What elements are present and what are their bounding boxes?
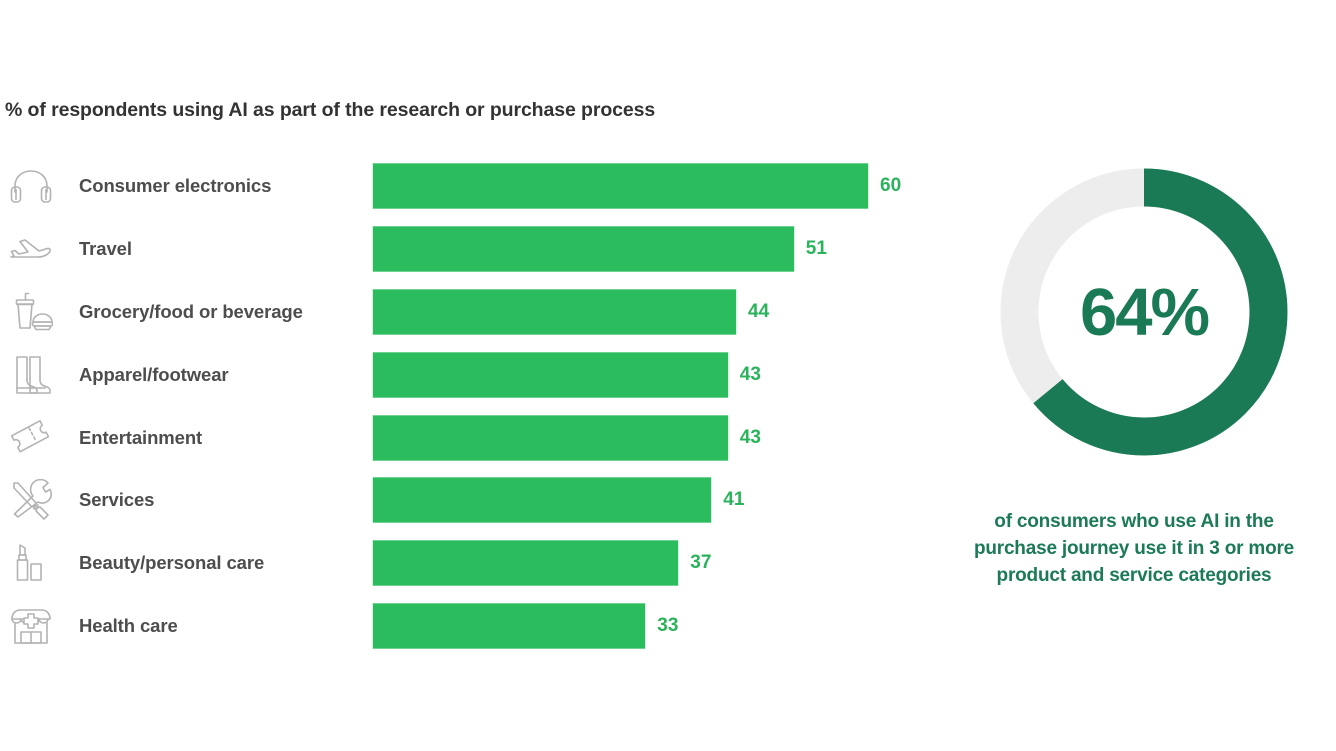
donut-caption-line: of consumers who use AI in the [932,508,1336,535]
donut-chart: 64% of consumers who use AI in the purch… [932,160,1336,600]
bar-track [373,415,728,460]
bar-track [373,541,678,586]
bar-track [373,352,728,397]
bar-category-label: Apparel/footwear [79,364,229,386]
donut-caption: of consumers who use AI in the purchase … [932,508,1336,589]
bar-row: Apparel/footwear 43 [0,343,930,406]
bar-fill [373,603,645,648]
bar-fill [373,415,728,460]
bar-category-label: Health care [79,615,178,637]
bar-track [373,164,868,209]
bar-track [373,227,794,272]
bar-value-label: 41 [723,489,744,511]
bar-track [373,478,711,523]
bar-fill [373,352,728,397]
boots-icon [6,352,56,398]
bar-row: Health care 33 [0,595,930,658]
bar-value-label: 60 [880,175,901,197]
bar-row: Entertainment 43 [0,406,930,469]
bar-category-label: Travel [79,238,132,260]
donut-graphic: 64% [1000,168,1288,456]
bar-track [373,289,736,334]
bar-category-label: Entertainment [79,427,202,449]
ticket-icon [6,415,56,461]
donut-caption-line: product and service categories [932,562,1336,589]
airplane-icon [6,226,56,272]
tools-icon [6,477,56,523]
bar-fill [373,164,868,209]
chart-title: % of respondents using AI as part of the… [5,99,655,122]
bar-category-label: Services [79,489,154,511]
bar-value-label: 37 [690,552,711,574]
chart-page: % of respondents using AI as part of the… [0,0,1336,751]
cosmetics-icon [6,540,56,586]
donut-caption-line: purchase journey use it in 3 or more [932,535,1336,562]
bar-fill [373,478,711,523]
bar-category-label: Grocery/food or beverage [79,301,303,323]
headphones-icon [6,163,56,209]
bar-value-label: 43 [740,364,761,386]
bar-category-label: Beauty/personal care [79,552,264,574]
bar-fill [373,541,678,586]
bar-fill [373,227,794,272]
bar-row: Services 41 [0,469,930,532]
bar-fill [373,289,736,334]
bar-row: Beauty/personal care 37 [0,532,930,595]
bar-value-label: 44 [748,301,769,323]
pharmacy-storefront-icon [6,603,56,649]
bar-value-label: 33 [657,615,678,637]
bar-category-label: Consumer electronics [79,175,271,197]
bar-row: Grocery/food or beverage 44 [0,281,930,344]
bar-track [373,603,645,648]
bar-row: Consumer electronics 60 [0,155,930,218]
bar-value-label: 51 [806,238,827,260]
bar-row: Travel 51 [0,218,930,281]
bar-chart: Consumer electronics 60 Travel 51 [0,155,930,655]
bar-value-label: 43 [740,427,761,449]
food-beverage-icon [6,289,56,335]
